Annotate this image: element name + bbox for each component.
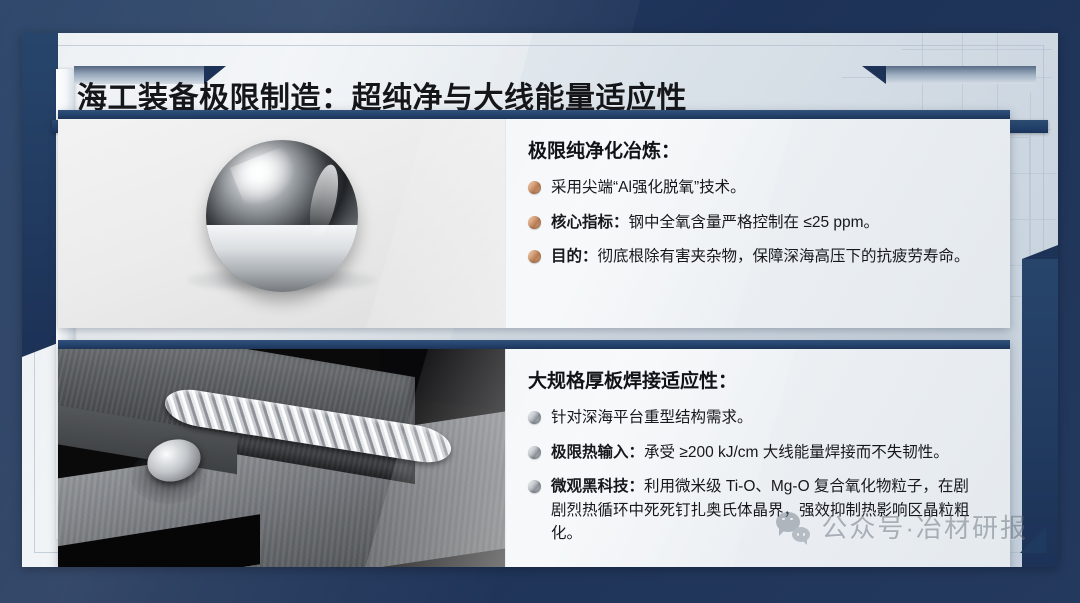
bottom-right-corner-triangle	[1020, 527, 1046, 553]
bullet-body: 采用尖端“Al强化脱氧”技术。	[551, 179, 746, 196]
slide-root: 海工装备极限制造：超纯净与大线能量适应性 极限纯净化冶炼： 采用尖端“Al强化脱…	[0, 0, 1080, 603]
chrome-sphere-photo	[58, 110, 505, 328]
content-card-heavy-plate-welding: 大规格厚板焊接适应性： 针对深海平台重型结构需求。 极限热输入：承受 ≥200 …	[58, 340, 1010, 567]
list-item: 极限热输入：承受 ≥200 kJ/cm 大线能量焊接而不失韧性。	[528, 441, 984, 465]
list-item: 针对深海平台重型结构需求。	[528, 406, 984, 430]
bullet-dot-icon	[528, 250, 541, 263]
bullet-label: 核心指标：	[551, 214, 629, 231]
navy-right-bar	[1022, 259, 1058, 567]
bullet-text: 采用尖端“Al强化脱氧”技术。	[551, 176, 746, 200]
slide-page: 海工装备极限制造：超纯净与大线能量适应性 极限纯净化冶炼： 采用尖端“Al强化脱…	[22, 33, 1058, 567]
list-item: 微观黑科技：利用微米级 Ti-O、Mg-O 复合氧化物粒子，在剧剧烈热循环中死死…	[528, 475, 984, 546]
list-item: 目的：彻底根除有害夹杂物，保障深海高压下的抗疲劳寿命。	[528, 245, 984, 269]
bullet-body: 承受 ≥200 kJ/cm 大线能量焊接而不失韧性。	[644, 444, 949, 461]
bullet-text: 核心指标：钢中全氧含量严格控制在 ≤25 ppm。	[551, 211, 879, 235]
weld-bead-photo	[58, 340, 505, 567]
bullet-dot-icon	[528, 216, 541, 229]
bullet-body: 彻底根除有害夹杂物，保障深海高压下的抗疲劳寿命。	[598, 248, 970, 265]
bullet-list: 采用尖端“Al强化脱氧”技术。 核心指标：钢中全氧含量严格控制在 ≤25 ppm…	[528, 176, 984, 269]
card-text-pane: 大规格厚板焊接适应性： 针对深海平台重型结构需求。 极限热输入：承受 ≥200 …	[505, 340, 1010, 567]
bullet-text: 微观黑科技：利用微米级 Ti-O、Mg-O 复合氧化物粒子，在剧剧烈热循环中死死…	[551, 475, 984, 546]
navy-left-bar	[22, 33, 58, 343]
card-text-pane: 极限纯净化冶炼： 采用尖端“Al强化脱氧”技术。 核心指标：钢中全氧含量严格控制…	[505, 110, 1010, 328]
bullet-body: 钢中全氧含量严格控制在 ≤25 ppm。	[629, 214, 880, 231]
top-right-notch	[886, 66, 1036, 84]
card-heading: 极限纯净化冶炼：	[528, 136, 984, 163]
bullet-dot-icon	[528, 181, 541, 194]
bullet-body: 针对深海平台重型结构需求。	[551, 409, 753, 426]
list-item: 采用尖端“Al强化脱氧”技术。	[528, 176, 984, 200]
card-heading: 大规格厚板焊接适应性：	[528, 366, 984, 393]
bullet-label: 极限热输入：	[551, 444, 644, 461]
content-card-ultra-clean-smelting: 极限纯净化冶炼： 采用尖端“Al强化脱氧”技术。 核心指标：钢中全氧含量严格控制…	[58, 110, 1010, 328]
bullet-dot-icon	[528, 480, 541, 493]
bullet-list: 针对深海平台重型结构需求。 极限热输入：承受 ≥200 kJ/cm 大线能量焊接…	[528, 406, 984, 546]
bullet-text: 目的：彻底根除有害夹杂物，保障深海高压下的抗疲劳寿命。	[551, 245, 970, 269]
bullet-text: 极限热输入：承受 ≥200 kJ/cm 大线能量焊接而不失韧性。	[551, 441, 949, 465]
bullet-label: 目的：	[551, 248, 598, 265]
bullet-text: 针对深海平台重型结构需求。	[551, 406, 753, 430]
card-top-bar	[58, 110, 1010, 119]
card-top-bar	[58, 340, 1010, 349]
bullet-label: 微观黑科技：	[551, 478, 644, 495]
bullet-dot-icon	[528, 446, 541, 459]
list-item: 核心指标：钢中全氧含量严格控制在 ≤25 ppm。	[528, 211, 984, 235]
bullet-dot-icon	[528, 411, 541, 424]
